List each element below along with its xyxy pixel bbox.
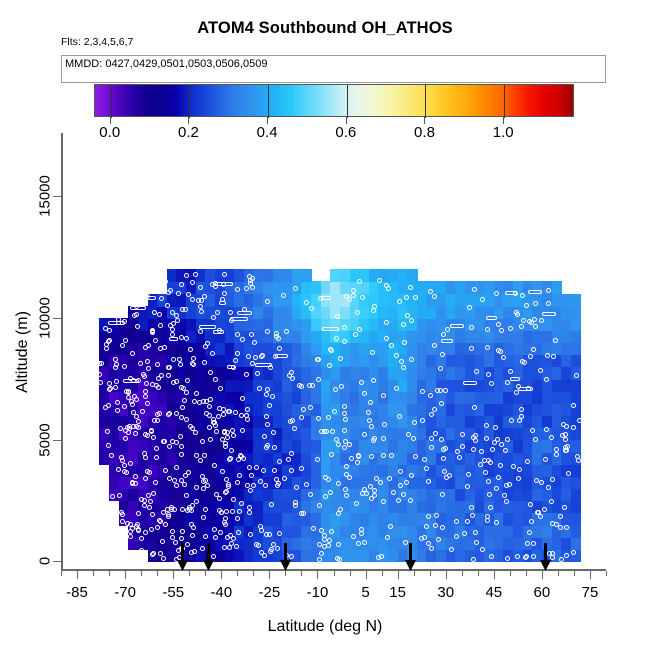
x-axis-tick — [269, 571, 270, 579]
x-axis-tick-label: 15 — [389, 584, 406, 601]
x-axis-tick — [205, 571, 206, 576]
y-axis-title: Altitude (m) — [14, 311, 32, 393]
flights-label: Flts: 2,3,4,5,6,7 — [61, 36, 133, 48]
colorbar-tick — [110, 117, 111, 124]
colorbar-tick — [188, 117, 189, 124]
x-axis-tick — [510, 571, 511, 576]
flight-marker-arrow — [177, 543, 188, 569]
x-axis-tick — [141, 571, 142, 576]
x-axis-tick — [157, 571, 158, 576]
x-axis-tick — [109, 571, 110, 576]
x-axis-tick-label: -85 — [66, 584, 88, 601]
colorbar-tick — [424, 117, 425, 124]
x-axis-tick — [430, 571, 431, 576]
colorbar-divider — [504, 85, 505, 118]
x-axis-tick-label: -25 — [259, 584, 281, 601]
x-axis-tick-label: 45 — [485, 584, 502, 601]
x-axis-tick — [606, 571, 607, 576]
y-axis-tick-label: 10000 — [37, 297, 54, 339]
colorbar[interactable]: 0.00.20.40.60.81.0 — [94, 84, 574, 117]
mmdd-label: MMDD: 0427,0429,0501,0503,0506,0509 — [65, 58, 267, 70]
flight-marker-arrow — [405, 543, 416, 569]
colorbar-tick — [503, 117, 504, 124]
x-axis-tick — [574, 571, 575, 576]
x-axis-tick — [478, 571, 479, 576]
x-axis-tick-label: -55 — [162, 584, 184, 601]
flight-marker-arrow — [540, 543, 551, 569]
x-axis-tick — [77, 571, 78, 579]
x-axis-tick — [253, 571, 254, 576]
x-axis-tick — [494, 571, 495, 579]
colorbar-divider — [189, 85, 190, 118]
flight-marker-arrow — [280, 543, 291, 569]
plot-frame — [61, 133, 606, 571]
x-axis-tick — [398, 571, 399, 579]
x-axis-tick — [125, 571, 126, 579]
x-axis-title: Latitude (deg N) — [0, 618, 650, 636]
x-axis-tick — [382, 571, 383, 576]
colorbar-tick — [346, 117, 347, 124]
x-axis-tick-label: 60 — [534, 584, 551, 601]
x-axis-tick — [285, 571, 286, 576]
x-axis-tick-label: 30 — [437, 584, 454, 601]
colorbar-tick — [267, 117, 268, 124]
x-axis-tick — [317, 571, 318, 579]
x-axis-tick — [301, 571, 302, 576]
colorbar-divider — [347, 85, 348, 118]
colorbar-gradient — [94, 84, 574, 117]
x-axis-tick — [558, 571, 559, 576]
x-axis-tick-label: -40 — [210, 584, 232, 601]
y-axis-tick-label: 0 — [37, 557, 54, 565]
x-axis-tick — [446, 571, 447, 579]
x-axis-tick — [542, 571, 543, 579]
x-axis-tick — [526, 571, 527, 576]
x-axis-tick — [462, 571, 463, 576]
colorbar-divider — [111, 85, 112, 118]
x-axis-tick — [221, 571, 222, 579]
flight-marker-arrow — [203, 543, 214, 569]
x-axis-tick — [414, 571, 415, 576]
x-axis-tick — [93, 571, 94, 576]
x-axis-tick — [334, 571, 335, 576]
y-axis-tick-label: 15000 — [37, 175, 54, 217]
x-axis-tick-label: -70 — [114, 584, 136, 601]
x-axis-tick — [590, 571, 591, 579]
x-axis-tick — [189, 571, 190, 576]
y-axis-tick — [53, 318, 61, 319]
y-axis-tick — [53, 196, 61, 197]
colorbar-divider — [268, 85, 269, 118]
x-axis-tick-label: 75 — [582, 584, 599, 601]
y-axis-tick — [53, 561, 61, 562]
x-axis-tick-label: -10 — [307, 584, 329, 601]
y-axis-tick-label: 5000 — [37, 423, 54, 456]
x-axis-tick — [237, 571, 238, 576]
x-axis-tick — [350, 571, 351, 576]
y-axis-tick — [53, 440, 61, 441]
x-axis-tick — [61, 571, 62, 576]
x-axis-tick — [173, 571, 174, 579]
colorbar-divider — [425, 85, 426, 118]
x-axis-tick-label: 5 — [361, 584, 369, 601]
x-axis-tick — [366, 571, 367, 579]
